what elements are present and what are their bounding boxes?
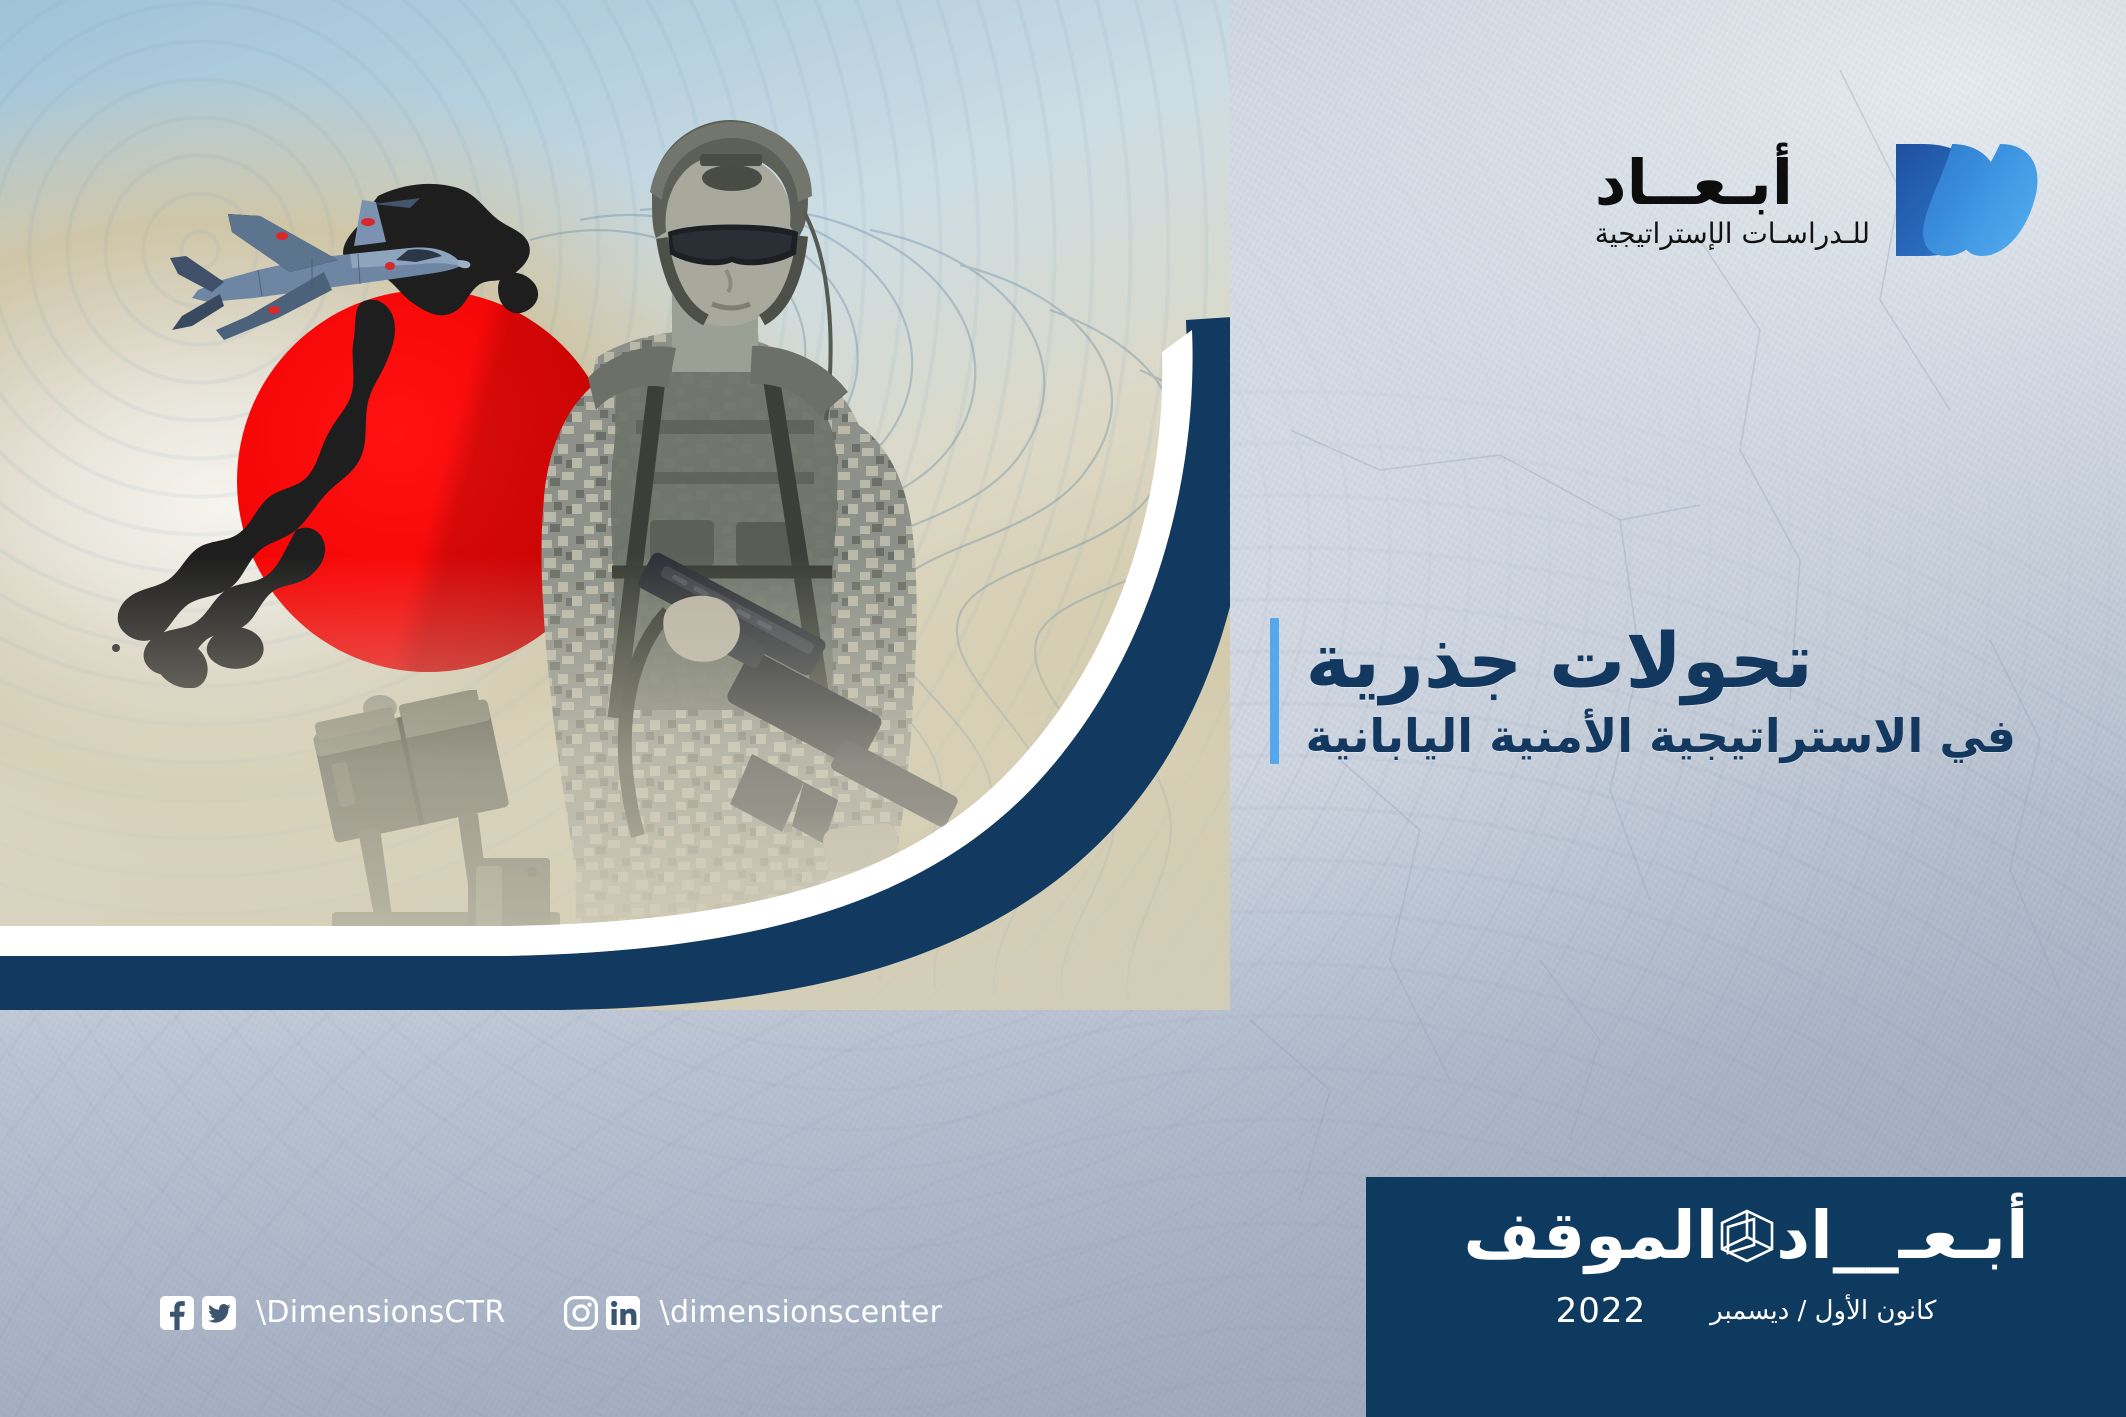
page-title: تحولات جذرية xyxy=(1305,618,1812,703)
social-media-bar: \DimensionsCTR \dimensionscenter xyxy=(160,1295,948,1330)
cover-title-block: تحولات جذرية في الاستراتيجية الأمنية الي… xyxy=(1270,618,2016,764)
badge-date: كانون الأول / ديسمبر xyxy=(1710,1296,1936,1326)
dss-monogram-icon xyxy=(1890,140,2040,260)
title-accent-bar xyxy=(1270,618,1279,764)
hero-artwork xyxy=(0,0,1230,1010)
social-group-primary[interactable] xyxy=(160,1296,236,1330)
linkedin-icon[interactable] xyxy=(606,1296,640,1330)
social-handle-secondary[interactable]: \dimensionscenter xyxy=(660,1295,943,1330)
report-cover-page: أبـعــاد للـدراسـات الإستراتيجية تحولات … xyxy=(0,0,2126,1417)
social-handle-primary[interactable]: \DimensionsCTR xyxy=(256,1295,506,1330)
page-subtitle: في الاستراتيجية الأمنية اليابانية xyxy=(1305,709,2016,764)
logo-tagline: للـدراسـات الإستراتيجية xyxy=(1595,220,1870,248)
badge-year: 2022 xyxy=(1556,1291,1647,1331)
badge-word-right: أبـعـ__اد xyxy=(1776,1203,2028,1269)
badge-word-left: الموقف xyxy=(1463,1203,1718,1269)
facebook-icon[interactable] xyxy=(160,1296,194,1330)
badge-wordmark: أبـعـ__اد الموقف xyxy=(1463,1203,2028,1269)
instagram-icon[interactable] xyxy=(564,1296,598,1330)
series-badge: أبـعـ__اد الموقف كانون الأول / ديسمبر 20… xyxy=(1366,1177,2126,1417)
twitter-icon[interactable] xyxy=(202,1296,236,1330)
social-group-secondary[interactable] xyxy=(564,1296,640,1330)
badge-meta: كانون الأول / ديسمبر 2022 xyxy=(1556,1291,1937,1331)
isometric-cube-icon xyxy=(1714,1203,1780,1269)
logo-title: أبـعــاد xyxy=(1595,152,1793,214)
publisher-logo[interactable]: أبـعــاد للـدراسـات الإستراتيجية xyxy=(1595,140,2040,260)
hero-fog-overlay xyxy=(0,556,1230,1011)
